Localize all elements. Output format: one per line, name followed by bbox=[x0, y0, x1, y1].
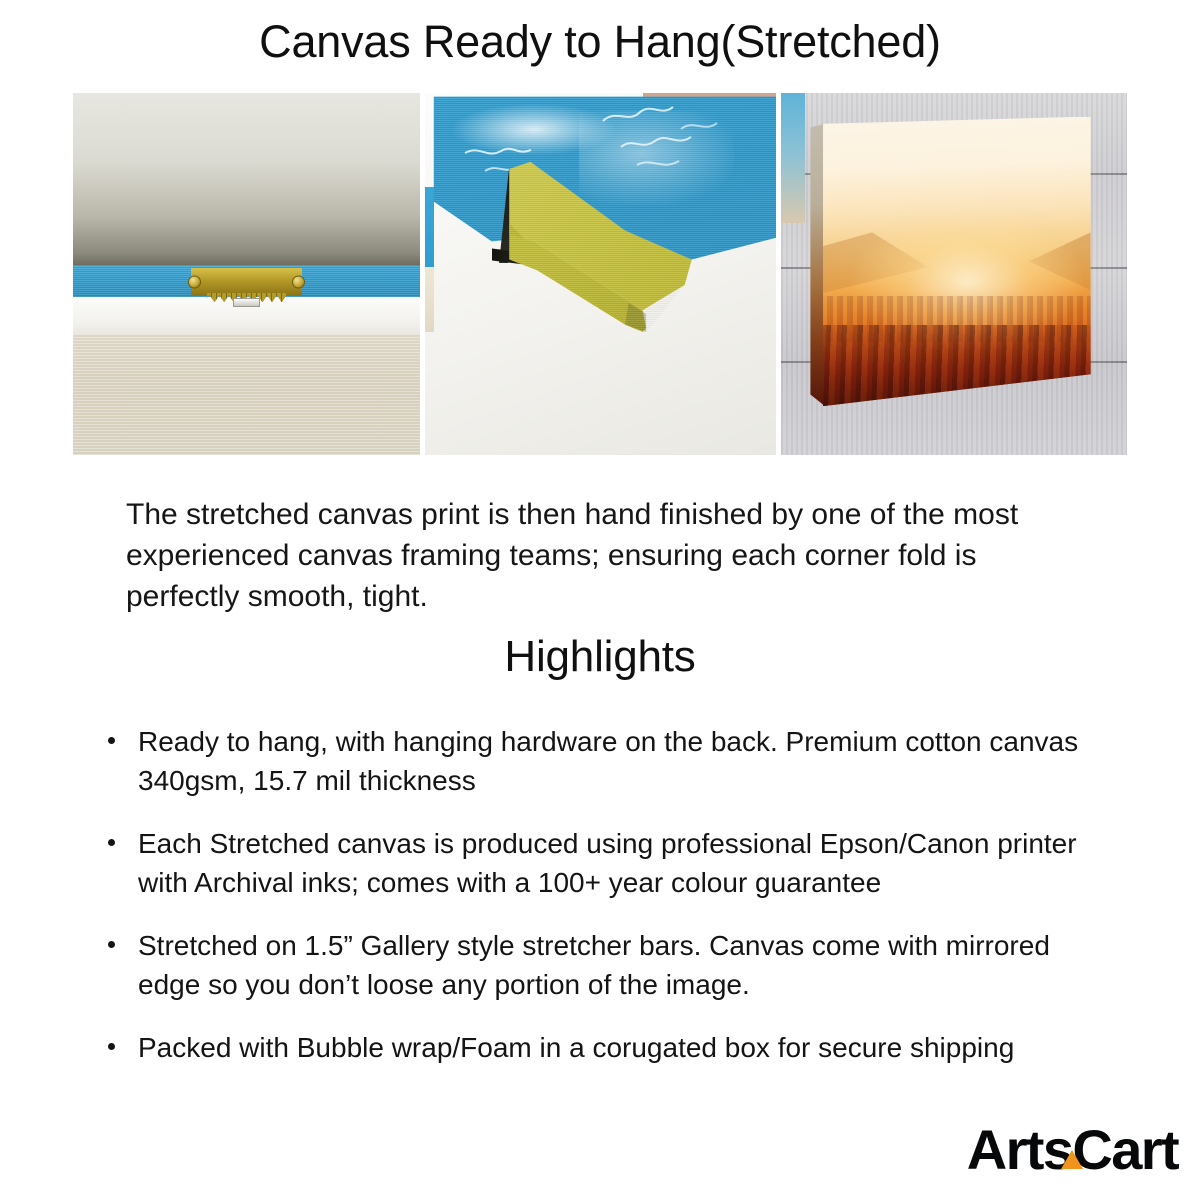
list-item-text: Packed with Bubble wrap/Foam in a coruga… bbox=[138, 1032, 1014, 1063]
logo-letter-a: A bbox=[967, 1122, 1006, 1178]
orange-triangle-icon bbox=[1061, 1150, 1083, 1169]
lead-paragraph: The stretched canvas print is then hand … bbox=[126, 494, 1078, 617]
list-item-text: Each Stretched canvas is produced using … bbox=[138, 828, 1077, 898]
list-item-text: Stretched on 1.5” Gallery style stretche… bbox=[138, 930, 1050, 1000]
hanger-screw-left-icon bbox=[188, 275, 201, 288]
brand-logo: A rtsCart bbox=[967, 1122, 1178, 1178]
list-item: Stretched on 1.5” Gallery style stretche… bbox=[104, 926, 1114, 1004]
hanger-screw-right-icon bbox=[292, 275, 305, 288]
bullet-dot-icon bbox=[108, 839, 115, 846]
photo-corner-fold-detail bbox=[425, 93, 776, 455]
wall-background bbox=[73, 93, 420, 265]
list-item: Packed with Bubble wrap/Foam in a coruga… bbox=[104, 1028, 1114, 1067]
list-item: Each Stretched canvas is produced using … bbox=[104, 824, 1114, 902]
page-title: Canvas Ready to Hang(Stretched) bbox=[0, 18, 1200, 65]
bullet-dot-icon bbox=[108, 941, 115, 948]
photo-canvas-back-hanger bbox=[73, 93, 420, 455]
photo-hung-canvas-sunset bbox=[781, 93, 1127, 455]
highlights-heading: Highlights bbox=[0, 632, 1200, 682]
logo-wordmark: rtsCart bbox=[1006, 1122, 1178, 1178]
sawtooth-hanger-icon bbox=[191, 268, 302, 296]
canvas-depth-edge bbox=[810, 117, 825, 407]
canvas-back-cotton bbox=[73, 335, 420, 455]
product-info-banner: Canvas Ready to Hang(Stretched) bbox=[0, 0, 1200, 1200]
product-photo-gallery bbox=[73, 93, 1127, 455]
adjacent-photo-bleed bbox=[781, 93, 805, 223]
highlights-list: Ready to hang, with hanging hardware on … bbox=[104, 722, 1114, 1091]
list-item: Ready to hang, with hanging hardware on … bbox=[104, 722, 1114, 800]
sunset-landscape-print bbox=[810, 117, 1090, 407]
left-edge-cream-sliver bbox=[425, 267, 434, 332]
list-item-text: Ready to hang, with hanging hardware on … bbox=[138, 726, 1078, 796]
bullet-dot-icon bbox=[108, 1043, 115, 1050]
bullet-dot-icon bbox=[108, 737, 115, 744]
hanging-wire-clip-icon bbox=[233, 298, 261, 307]
